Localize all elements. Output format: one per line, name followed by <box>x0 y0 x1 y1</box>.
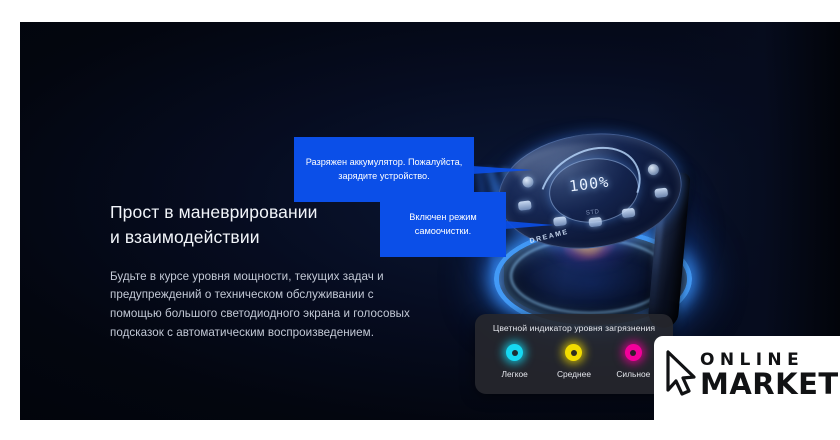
legend-title: Цветной индикатор уровня загрязнения <box>475 323 673 333</box>
callout-battery-text: Разряжен аккумулятор. Пожалуйста, заряди… <box>306 157 463 180</box>
mode-key[interactable] <box>647 163 659 175</box>
logo-line-market: MARKET <box>700 370 839 399</box>
hero-description: Будьте в курсе уровня мощности, текущих … <box>110 268 410 343</box>
legend-item-light: Легкое <box>487 344 543 379</box>
dirt-level-legend: Цветной индикатор уровня загрязнения Лег… <box>475 314 673 394</box>
indicator-dot-yellow <box>565 344 582 361</box>
indicator-dot-magenta <box>625 344 642 361</box>
suction-key[interactable] <box>518 201 532 212</box>
callout-self-clean-pointer <box>506 221 554 229</box>
page-root: 100% STD DREAME Прост в маневрировании и… <box>0 0 840 440</box>
callout-self-clean-text: Включен режим самоочистки. <box>409 212 477 235</box>
water-key[interactable] <box>654 187 668 198</box>
legend-item-medium: Среднее <box>546 344 602 379</box>
device-brand-label: DREAME <box>529 228 569 244</box>
indicator-dot-cyan <box>506 344 523 361</box>
brush-key[interactable] <box>588 217 602 228</box>
legend-item-heavy: Сильное <box>605 344 661 379</box>
hero-copy: Прост в маневрировании и взаимодействии … <box>110 200 410 343</box>
callout-battery-pointer <box>474 166 532 174</box>
page-title: Прост в маневрировании и взаимодействии <box>110 200 410 250</box>
settings-key[interactable] <box>622 208 636 219</box>
legend-label-medium: Среднее <box>557 369 591 379</box>
legend-label-heavy: Сильное <box>616 369 650 379</box>
device-glow-ring-inner <box>510 238 670 314</box>
online-market-logo[interactable]: ONLINE MARKET <box>654 336 840 422</box>
logo-wordmark: ONLINE MARKET <box>700 352 839 399</box>
cursor-arrow-icon <box>664 350 698 401</box>
legend-label-light: Легкое <box>502 369 528 379</box>
legend-items: Легкое Среднее Сильное <box>475 344 673 379</box>
callout-self-clean: Включен режим самоочистки. <box>380 192 506 257</box>
